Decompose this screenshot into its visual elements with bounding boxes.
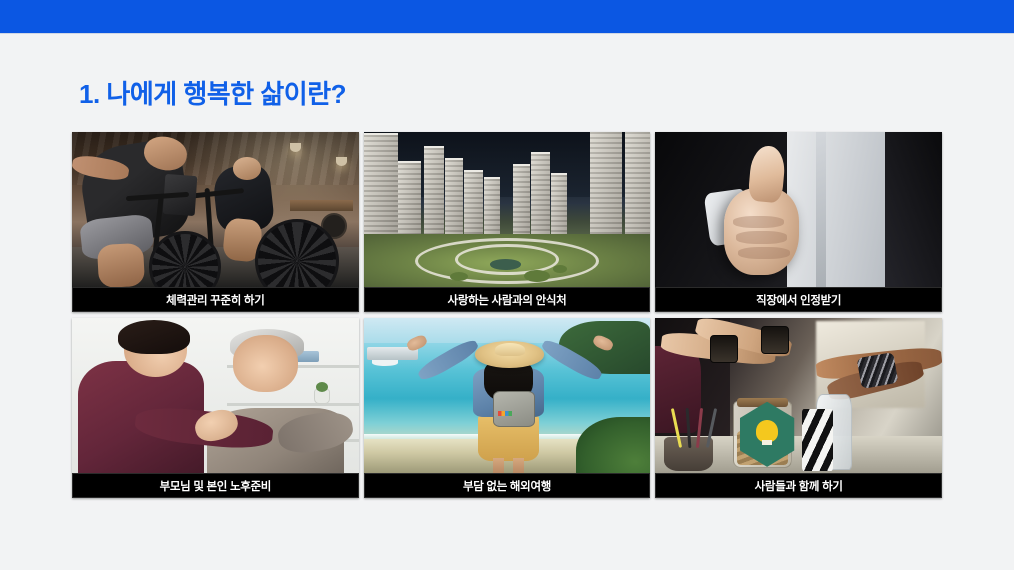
- team-hands-together-desk-photo: [655, 318, 942, 473]
- card-caption: 부담 없는 해외여행: [364, 473, 651, 498]
- card-travel[interactable]: 부담 없는 해외여행: [364, 318, 651, 498]
- top-band-divider: [0, 33, 1014, 34]
- card-home[interactable]: 사랑하는 사람과의 안식처: [364, 132, 651, 312]
- beach-traveler-arms-open-photo: [364, 318, 651, 473]
- card-caption: 사랑하는 사람과의 안식처: [364, 287, 651, 312]
- son-embracing-elderly-father-photo: [72, 318, 359, 473]
- card-togetherness[interactable]: 사람들과 함께 하기: [655, 318, 942, 498]
- card-caption: 체력관리 꾸준히 하기: [72, 287, 359, 312]
- image-card-grid: 체력관리 꾸준히 하기 사랑하는 사람과의 안식처 직장에서 인정받기: [72, 132, 942, 498]
- card-gym[interactable]: 체력관리 꾸준히 하기: [72, 132, 359, 312]
- card-retirement[interactable]: 부모님 및 본인 노후준비: [72, 318, 359, 498]
- gym-air-bike-workout-photo: [72, 132, 359, 287]
- apartment-complex-park-photo: [364, 132, 651, 287]
- top-accent-band: [0, 0, 1014, 33]
- page-title: 1. 나에게 행복한 삶이란?: [79, 74, 346, 111]
- card-recognition[interactable]: 직장에서 인정받기: [655, 132, 942, 312]
- card-caption: 부모님 및 본인 노후준비: [72, 473, 359, 498]
- business-thumbs-up-photo: [655, 132, 942, 287]
- card-caption: 직장에서 인정받기: [655, 287, 942, 312]
- card-caption: 사람들과 함께 하기: [655, 473, 942, 498]
